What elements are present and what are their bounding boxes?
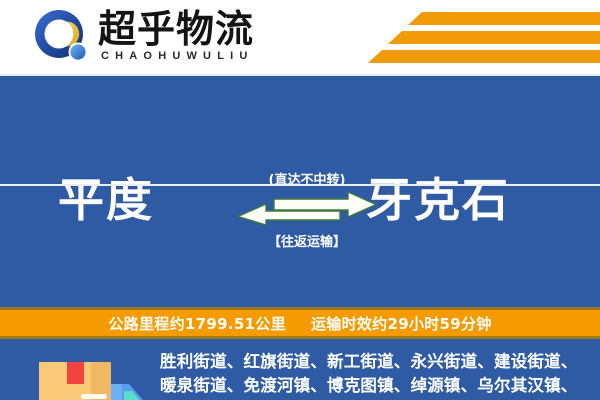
coverage-section: 胜利街道、红旗街道、新工街道、永兴街道、建设街道、暖泉街道、免渡河镇、博克图镇、… — [0, 342, 600, 400]
route-arrow-block: (直达不中转) 【往返运输】 — [232, 147, 382, 257]
panel-top-hairline — [0, 74, 600, 76]
destination-city: 牙克石 — [366, 169, 510, 231]
arrow-caption-bottom: 【往返运输】 — [232, 231, 382, 250]
stripe-2 — [388, 31, 600, 44]
stripe-3 — [368, 50, 600, 63]
info-bar-text: 公路里程约1799.51公里 运输时效约29小时59分钟 — [108, 313, 491, 334]
route-info-bar: 公路里程约1799.51公里 运输时效约29小时59分钟 — [0, 307, 600, 339]
logistics-route-banner: 超乎物流 CHAOHUWULIU 平度 (直达不中转) — [0, 0, 600, 400]
stripe-1 — [408, 12, 600, 25]
delivery-truck-icon — [25, 350, 150, 400]
brand-name-cn: 超乎物流 — [98, 8, 254, 50]
distance-text: 公路里程约1799.51公里 — [108, 315, 286, 333]
main-panel: 平度 (直达不中转) 【往返运输】 牙克石 公路里程约1799.51公里 — [0, 74, 600, 400]
covered-areas-text: 胜利街道、红旗街道、新工街道、永兴街道、建设街道、暖泉街道、免渡河镇、博克图镇、… — [160, 350, 588, 400]
brand-name-en: CHAOHUWULIU — [101, 50, 254, 62]
banner-header: 超乎物流 CHAOHUWULIU — [0, 0, 600, 74]
panel-lower-hairline — [0, 184, 600, 186]
circle-crescent-logo-icon — [34, 9, 90, 65]
route-row: 平度 (直达不中转) 【往返运输】 牙克石 — [0, 169, 600, 254]
origin-city: 平度 — [58, 169, 154, 231]
duration-text: 运输时效约29小时59分钟 — [311, 315, 492, 333]
decorative-stripes — [350, 8, 600, 70]
